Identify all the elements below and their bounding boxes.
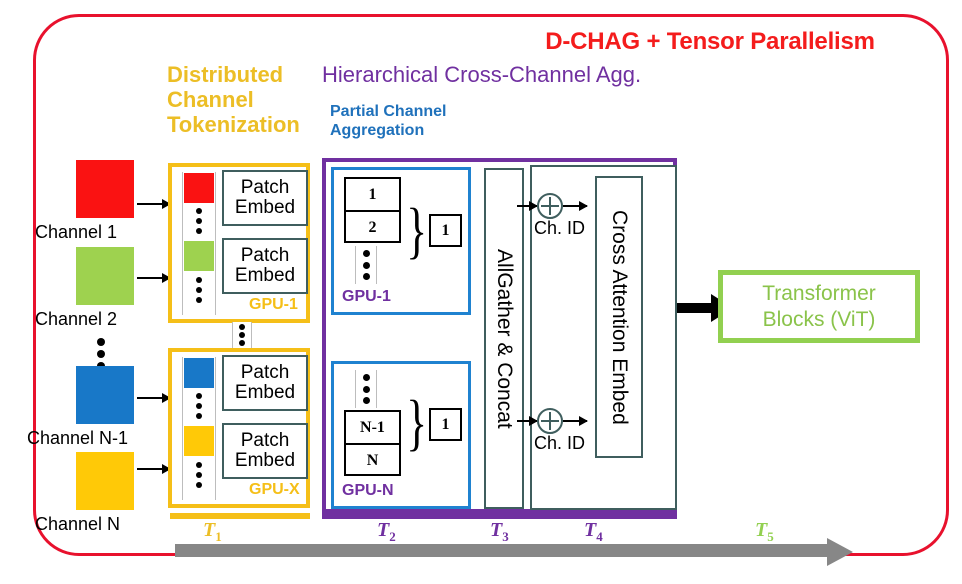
arrow-to-transformer-line: [677, 303, 711, 313]
channel-label-4: Channel N: [35, 514, 120, 535]
aggregation-gpu-n-output-token: 1: [429, 408, 462, 441]
transformer-label-line2: Blocks (ViT): [762, 307, 876, 333]
tokenization-title-line3: Tokenization: [167, 112, 312, 137]
tokenizer-gpu-1-label: GPU-1: [249, 296, 298, 314]
channel-swatch-1: [76, 160, 134, 218]
timeline-label-4-text: T: [584, 519, 596, 541]
patch-embed-4-line1: Patch: [241, 431, 290, 451]
tokenizer-gpu-1-swatch-2: [184, 241, 214, 271]
tokenizer-gpu-x-ellipsis-1-icon: [195, 393, 203, 419]
xor-operator-1-icon: [537, 193, 563, 219]
tokenizer-gpu-1-ellipsis-1-icon: [195, 208, 203, 234]
timeline-label-4-sub: 4: [596, 529, 603, 544]
tokenizer-gpu-1-swatch-1: [184, 173, 214, 203]
arrow-channel-2: [137, 277, 170, 279]
patch-embed-box-1: Patch Embed: [222, 170, 308, 226]
aggregation-gpu-n-label: GPU-N: [342, 482, 394, 500]
arrow-into-xor-1: [517, 205, 537, 207]
transformer-label-line1: Transformer: [762, 281, 876, 307]
cross-attention-embed-box: Cross Attention Embed: [595, 176, 643, 458]
tokenization-title-line1: Distributed: [167, 62, 312, 87]
transformer-blocks-box: Transformer Blocks (ViT): [718, 270, 920, 343]
patch-embed-box-4: Patch Embed: [222, 423, 308, 479]
timeline-label-1: T1: [203, 519, 222, 545]
timeline-label-5-sub: 5: [767, 529, 774, 544]
timeline-label-3: T3: [490, 519, 509, 545]
timeline-label-5: T5: [755, 519, 774, 545]
timeline-label-2-sub: 2: [389, 529, 396, 544]
section-title-partial-aggregation: Partial Channel Aggregation: [330, 102, 530, 140]
patch-embed-3-line2: Embed: [235, 383, 295, 403]
channel-swatch-2: [76, 247, 134, 305]
patch-embed-3-line1: Patch: [241, 363, 290, 383]
aggregation-gpu-1-label: GPU-1: [342, 288, 391, 306]
channel-id-label-bottom: Ch. ID: [534, 433, 585, 454]
aggregation-gpu-1-box: 1 2 } 1 GPU-1: [331, 167, 471, 315]
aggregation-gpu-n-box: N-1 N } 1 GPU-N: [331, 361, 471, 509]
patch-embed-1-line2: Embed: [235, 198, 295, 218]
channel-label-2: Channel 2: [35, 309, 117, 330]
timeline-label-3-text: T: [490, 519, 502, 541]
aggregation-gpu-1-token-2: 2: [346, 212, 399, 243]
aggregation-gpu-n-ellipsis-icon: [362, 374, 370, 404]
tokenizer-gpu-x-swatch-2: [184, 426, 214, 456]
aggregation-gpu-n-token-2: N: [346, 445, 399, 476]
timeline-label-2: T2: [377, 519, 396, 545]
timeline-label-1-sub: 1: [215, 529, 222, 544]
cross-attention-embed-label: Cross Attention Embed: [607, 210, 631, 425]
aggregation-gpu-1-output-token: 1: [429, 214, 462, 247]
arrow-channel-4: [137, 468, 170, 470]
arrow-channel-1: [137, 203, 170, 205]
patch-embed-box-3: Patch Embed: [222, 355, 308, 411]
patch-embed-2-line2: Embed: [235, 266, 295, 286]
partial-agg-title-line2: Aggregation: [330, 121, 530, 140]
channel-swatch-3: [76, 366, 134, 424]
tokenizer-gpu-1-box: Patch Embed Patch Embed GPU-1: [168, 163, 310, 323]
xor-operator-2-icon: [537, 408, 563, 434]
timeline-arrow-head-icon: [827, 538, 853, 566]
section-title-hcca: Hierarchical Cross-Channel Agg.: [322, 62, 742, 88]
arrow-channel-3: [137, 397, 170, 399]
tokenizer-gpu-x-box: Patch Embed Patch Embed GPU-X: [168, 348, 310, 508]
tokenizer-gpu-x-ellipsis-2-icon: [195, 462, 203, 488]
patch-embed-2-line1: Patch: [241, 246, 290, 266]
section-title-tokenization: Distributed Channel Tokenization: [167, 62, 312, 137]
patch-embed-1-line1: Patch: [241, 178, 290, 198]
timeline-label-1-text: T: [203, 519, 215, 541]
timeline-label-3-sub: 3: [502, 529, 509, 544]
arrow-out-xor-2: [563, 420, 587, 422]
channel-label-1: Channel 1: [35, 222, 117, 243]
timeline-label-4: T4: [584, 519, 603, 545]
patch-embed-box-2: Patch Embed: [222, 238, 308, 294]
figure-title: D-CHAG + Tensor Parallelism: [480, 28, 940, 56]
tokenizer-gpu-x-swatch-1: [184, 358, 214, 388]
phase-bar-tokenization: [170, 513, 310, 519]
tokenizer-between-ellipsis-icon: [238, 324, 246, 346]
aggregation-gpu-1-brace-icon: }: [406, 182, 426, 282]
aggregation-gpu-1-token-1: 1: [346, 179, 399, 212]
aggregation-gpu-1-token-stack: 1 2: [344, 177, 401, 243]
patch-embed-4-line2: Embed: [235, 451, 295, 471]
timeline-bar: [175, 544, 827, 557]
tokenizer-gpu-x-label: GPU-X: [249, 481, 300, 499]
aggregation-gpu-n-token-1: N-1: [346, 412, 399, 445]
aggregation-gpu-n-token-stack: N-1 N: [344, 410, 401, 476]
allgather-concat-box: AllGather & Concat: [484, 168, 524, 509]
arrow-into-xor-2: [517, 420, 537, 422]
partial-agg-title-line1: Partial Channel: [330, 102, 530, 121]
timeline-label-2-text: T: [377, 519, 389, 541]
channel-id-label-top: Ch. ID: [534, 218, 585, 239]
channel-swatch-4: [76, 452, 134, 510]
channel-label-3: Channel N-1: [27, 428, 128, 449]
aggregation-gpu-1-ellipsis-icon: [362, 250, 370, 280]
allgather-concat-label: AllGather & Concat: [492, 249, 516, 429]
figure-canvas: D-CHAG + Tensor Parallelism Distributed …: [0, 0, 962, 584]
timeline-label-5-text: T: [755, 519, 767, 541]
arrow-out-xor-1: [563, 205, 587, 207]
tokenization-title-line2: Channel: [167, 87, 312, 112]
aggregation-gpu-n-brace-icon: }: [406, 374, 426, 474]
tokenizer-gpu-1-ellipsis-2-icon: [195, 277, 203, 303]
